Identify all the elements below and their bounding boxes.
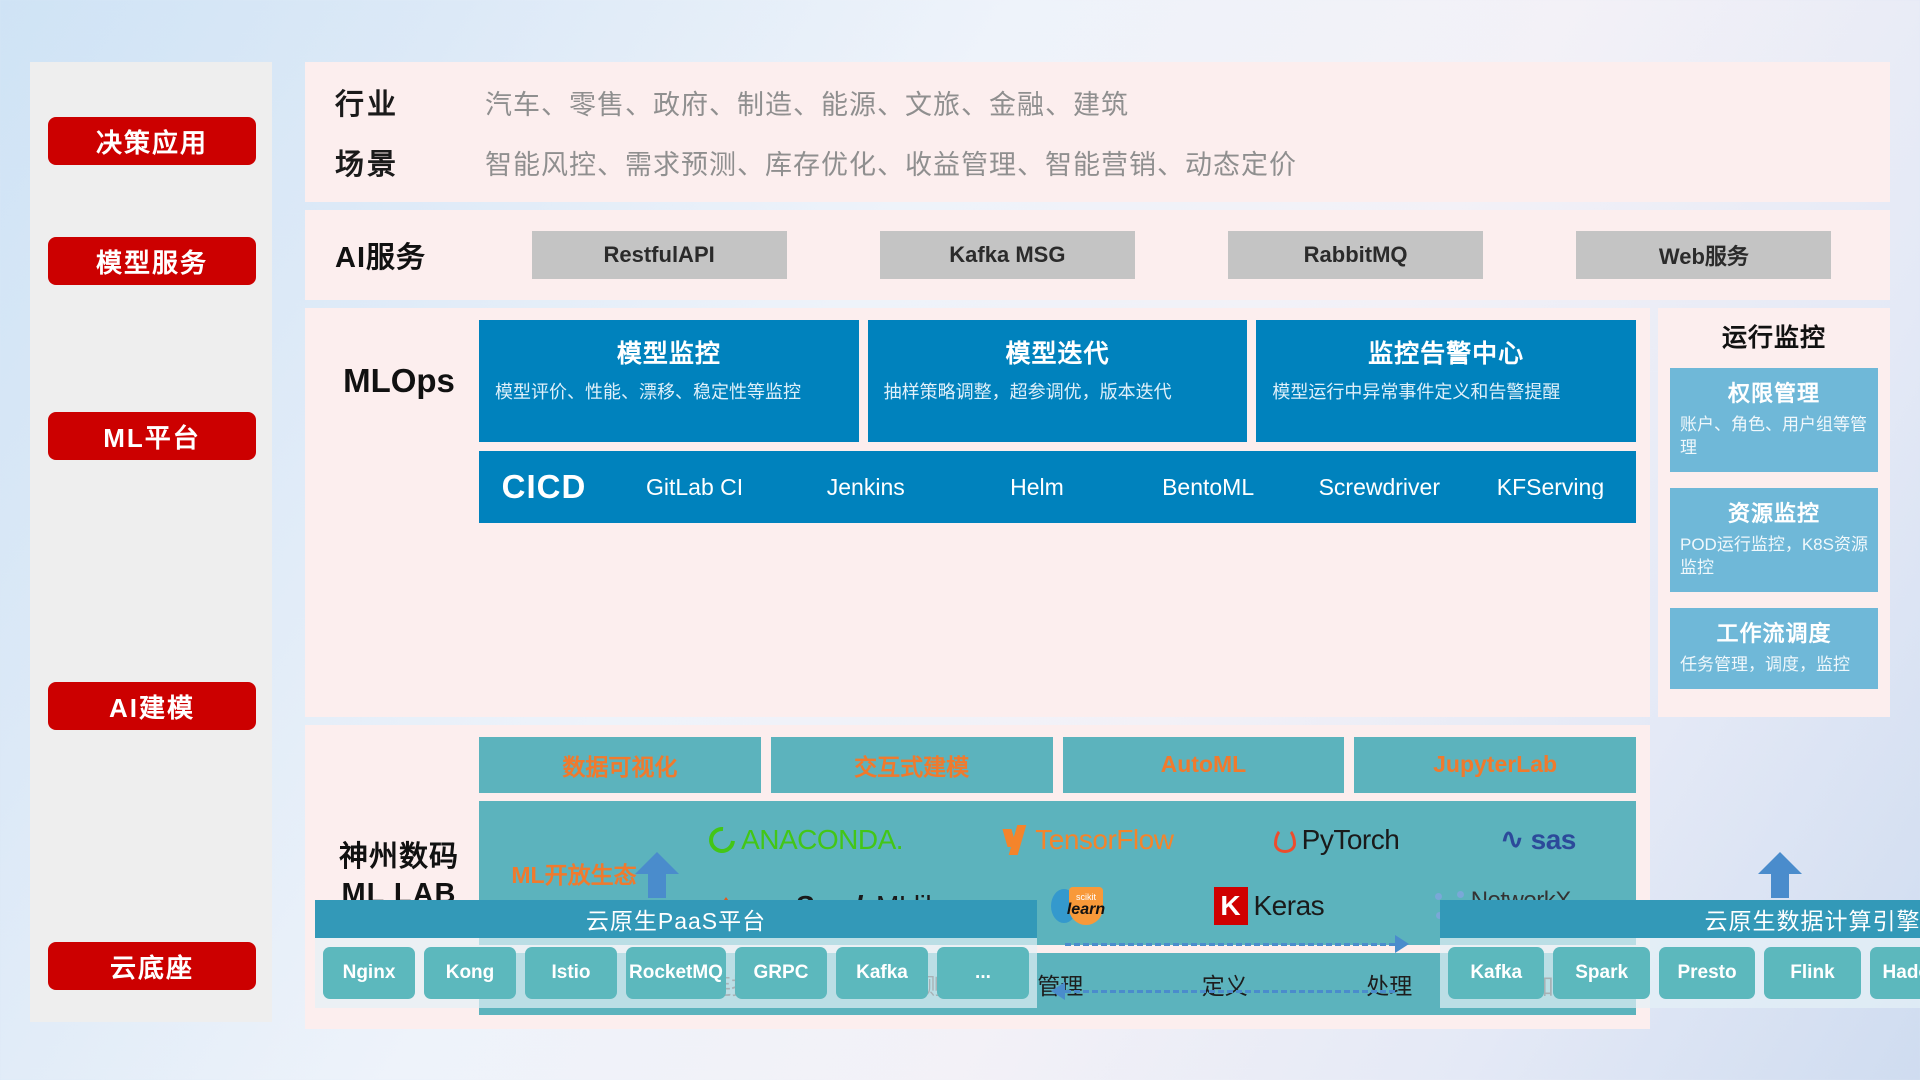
scenario-row: 场景 智能风控、需求预测、库存优化、收益管理、智能营销、动态定价 bbox=[335, 141, 1890, 183]
paas-chip-rocketmq[interactable]: RocketMQ bbox=[626, 947, 726, 999]
tool-chip-jupyterlab[interactable]: JupyterLab bbox=[1354, 737, 1636, 793]
cloud-native-data-engine-group: 云原生数据计算引擎 Kafka Spark Presto Flink Hadoo… bbox=[1440, 900, 1920, 1008]
ai-services-band: AI服务 RestfulAPI Kafka MSG RabbitMQ Web服务 bbox=[305, 210, 1890, 300]
mlops-card-desc: 模型评价、性能、漂移、稳定性等监控 bbox=[495, 380, 843, 405]
cicd-item-jenkins[interactable]: Jenkins bbox=[780, 476, 951, 499]
operations-monitoring-column: 运行监控 权限管理 账户、角色、用户组等管理 资源监控 POD运行监控，K8S资… bbox=[1658, 308, 1890, 717]
cicd-item-screwdriver[interactable]: Screwdriver bbox=[1294, 476, 1465, 499]
mlops-band: MLOps 模型监控 模型评价、性能、漂移、稳定性等监控 模型迭代 抽样策略调整… bbox=[305, 308, 1650, 717]
pytorch-logo: PyTorch bbox=[1274, 824, 1400, 856]
arrow-up-paas-icon bbox=[635, 852, 679, 898]
tool-chip-interactive-modeling[interactable]: 交互式建模 bbox=[771, 737, 1053, 793]
mlops-card-title: 模型监控 bbox=[495, 334, 843, 370]
ml-lab-label-line1: 神州数码 bbox=[339, 839, 459, 875]
monitor-card-desc: POD运行监控，K8S资源监控 bbox=[1680, 534, 1868, 580]
dashed-arrow-right-head-icon bbox=[1395, 935, 1409, 953]
monitor-card-title: 资源监控 bbox=[1680, 496, 1868, 528]
scenario-key: 场景 bbox=[335, 141, 485, 183]
rail-badge-decision-app[interactable]: 决策应用 bbox=[48, 117, 256, 165]
monitor-card-desc: 账户、角色、用户组等管理 bbox=[1680, 414, 1868, 460]
rail-badge-ai-modeling[interactable]: AI建模 bbox=[48, 682, 256, 730]
scenario-value: 智能风控、需求预测、库存优化、收益管理、智能营销、动态定价 bbox=[485, 143, 1297, 182]
mlops-card-desc: 模型运行中异常事件定义和告警提醒 bbox=[1272, 380, 1620, 405]
engine-chip-kafka[interactable]: Kafka bbox=[1448, 947, 1544, 999]
pytorch-flame-icon bbox=[1274, 827, 1296, 853]
operations-monitoring-title: 运行监控 bbox=[1670, 318, 1878, 354]
sas-swirl-icon: ∿ bbox=[1500, 822, 1525, 857]
ai-service-chip-rabbitmq[interactable]: RabbitMQ bbox=[1228, 231, 1483, 279]
paas-chip-kafka[interactable]: Kafka bbox=[836, 947, 928, 999]
monitor-card-desc: 任务管理，调度，监控 bbox=[1680, 654, 1868, 677]
cloud-native-data-engine-title: 云原生数据计算引擎 bbox=[1440, 900, 1920, 938]
cloud-native-paas-title: 云原生PaaS平台 bbox=[315, 900, 1037, 938]
paas-chip-nginx[interactable]: Nginx bbox=[323, 947, 415, 999]
mlops-card-title: 监控告警中心 bbox=[1272, 334, 1620, 370]
pytorch-logo-text: PyTorch bbox=[1302, 824, 1400, 856]
cloud-foundation-zone: 云原生PaaS平台 Nginx Kong Istio RocketMQ GRPC… bbox=[305, 880, 1895, 1040]
industry-row: 行业 汽车、零售、政府、制造、能源、文旅、金融、建筑 bbox=[335, 81, 1890, 123]
monitor-card-resource-monitoring[interactable]: 资源监控 POD运行监控，K8S资源监控 bbox=[1670, 488, 1878, 592]
engine-chip-presto[interactable]: Presto bbox=[1659, 947, 1755, 999]
arrow-up-engine-icon bbox=[1758, 852, 1802, 898]
cicd-item-gitlab-ci[interactable]: GitLab CI bbox=[609, 476, 780, 499]
cicd-item-bentoml[interactable]: BentoML bbox=[1123, 476, 1294, 499]
bidirectional-dashed-arrows bbox=[1045, 935, 1440, 1015]
tool-chip-automl[interactable]: AutoML bbox=[1063, 737, 1345, 793]
mlops-card-alert-center[interactable]: 监控告警中心 模型运行中异常事件定义和告警提醒 bbox=[1256, 320, 1636, 442]
industry-scenario-band: 行业 汽车、零售、政府、制造、能源、文旅、金融、建筑 场景 智能风控、需求预测、… bbox=[305, 62, 1890, 202]
mlops-card-model-iteration[interactable]: 模型迭代 抽样策略调整，超参调优，版本迭代 bbox=[868, 320, 1248, 442]
monitor-card-workflow-scheduling[interactable]: 工作流调度 任务管理，调度，监控 bbox=[1670, 608, 1878, 689]
monitor-card-title: 权限管理 bbox=[1680, 376, 1868, 408]
cicd-row: CICD GitLab CI Jenkins Helm BentoML Scre… bbox=[479, 451, 1636, 523]
cloud-native-paas-group: 云原生PaaS平台 Nginx Kong Istio RocketMQ GRPC… bbox=[315, 900, 1037, 1008]
ai-services-label: AI服务 bbox=[335, 234, 485, 276]
mlops-label: MLOps bbox=[319, 320, 479, 442]
sas-logo-text: sas bbox=[1531, 824, 1576, 856]
anaconda-ring-icon bbox=[704, 821, 741, 858]
paas-chip-kong[interactable]: Kong bbox=[424, 947, 516, 999]
tensorflow-logo-text: TensorFlow bbox=[1035, 824, 1173, 856]
dashed-arrow-right bbox=[1065, 943, 1395, 946]
engine-chip-hadoop[interactable]: Hadoop bbox=[1870, 947, 1920, 999]
industry-key: 行业 bbox=[335, 81, 485, 123]
ai-service-chip-restfulapi[interactable]: RestfulAPI bbox=[532, 231, 787, 279]
rail-badge-model-service[interactable]: 模型服务 bbox=[48, 237, 256, 285]
stack-layer-rail: 决策应用 模型服务 ML平台 AI建模 云底座 bbox=[30, 62, 272, 1022]
tool-chip-data-visualization[interactable]: 数据可视化 bbox=[479, 737, 761, 793]
mlops-card-title: 模型迭代 bbox=[884, 334, 1232, 370]
rail-badge-ml-platform[interactable]: ML平台 bbox=[48, 412, 256, 460]
mlops-card-desc: 抽样策略调整，超参调优，版本迭代 bbox=[884, 380, 1232, 405]
ai-service-chip-web-service[interactable]: Web服务 bbox=[1576, 231, 1831, 279]
engine-chip-spark[interactable]: Spark bbox=[1553, 947, 1649, 999]
monitor-card-title: 工作流调度 bbox=[1680, 616, 1868, 648]
paas-chip-more[interactable]: ... bbox=[937, 947, 1029, 999]
cicd-title: CICD bbox=[479, 468, 609, 506]
paas-chip-grpc[interactable]: GRPC bbox=[735, 947, 827, 999]
anaconda-logo-text: ANACONDA. bbox=[741, 824, 903, 856]
paas-chip-istio[interactable]: Istio bbox=[525, 947, 617, 999]
rail-badge-cloud-foundation[interactable]: 云底座 bbox=[48, 942, 256, 990]
cicd-item-kfserving[interactable]: KFServing bbox=[1465, 476, 1636, 499]
tensorflow-logo: TensorFlow bbox=[1003, 824, 1173, 856]
engine-chip-flink[interactable]: Flink bbox=[1764, 947, 1860, 999]
ai-service-chip-kafka-msg[interactable]: Kafka MSG bbox=[880, 231, 1135, 279]
industry-value: 汽车、零售、政府、制造、能源、文旅、金融、建筑 bbox=[485, 83, 1129, 122]
dashed-arrow-left-head-icon bbox=[1051, 982, 1065, 1000]
anaconda-logo: ANACONDA. bbox=[709, 824, 903, 856]
monitor-card-permission-management[interactable]: 权限管理 账户、角色、用户组等管理 bbox=[1670, 368, 1878, 472]
mlops-card-model-monitoring[interactable]: 模型监控 模型评价、性能、漂移、稳定性等监控 bbox=[479, 320, 859, 442]
tensorflow-arrow-icon bbox=[1003, 825, 1029, 855]
dashed-arrow-left bbox=[1065, 990, 1395, 993]
sas-logo: ∿ sas bbox=[1500, 822, 1576, 857]
cicd-item-helm[interactable]: Helm bbox=[951, 476, 1122, 499]
